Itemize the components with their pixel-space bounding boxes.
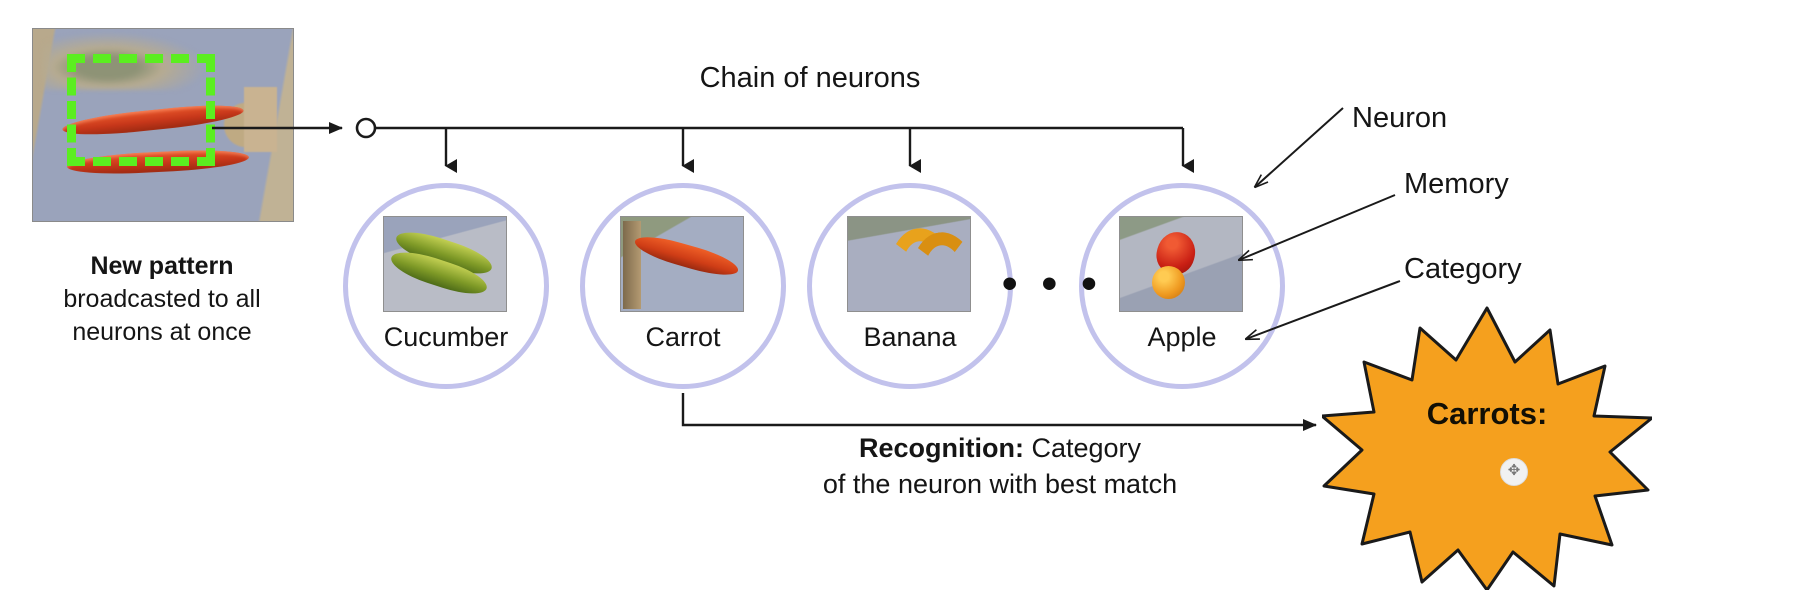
annotation-label-category: Category xyxy=(1404,253,1522,286)
neuron-label-banana: Banana xyxy=(847,322,973,352)
starburst-shape xyxy=(1322,300,1652,590)
memory-image-carrot xyxy=(620,216,744,312)
input-caption: New pattern broadcasted to all neurons a… xyxy=(2,250,322,349)
neuron-circle-cucumber[interactable]: Cucumber xyxy=(343,183,549,389)
neuron-circle-carrot[interactable]: Carrot xyxy=(580,183,786,389)
neuron-content-banana: Banana xyxy=(847,216,973,352)
recognition-caption-strong: Recognition: xyxy=(859,433,1024,463)
recognition-caption: Recognition: Category of the neuron with… xyxy=(690,430,1310,502)
recognition-caption-line1: Recognition: Category xyxy=(690,430,1310,466)
memory-image-apple xyxy=(1119,216,1243,312)
input-broadcast-line xyxy=(212,119,1183,166)
chain-of-neurons-title: Chain of neurons xyxy=(560,62,1060,95)
recognition-result-burst[interactable]: Carrots: xyxy=(1322,300,1652,590)
memory-image-banana xyxy=(847,216,971,312)
neuron-circle-banana[interactable]: Banana xyxy=(807,183,1013,389)
annotation-label-neuron: Neuron xyxy=(1352,102,1447,135)
input-caption-line3: neurons at once xyxy=(2,316,322,349)
neuron-label-apple: Apple xyxy=(1119,322,1245,352)
recognition-caption-rest: Category xyxy=(1024,433,1141,463)
diagram-canvas: New pattern broadcasted to all neurons a… xyxy=(0,0,1820,597)
recognition-caption-line2: of the neuron with best match xyxy=(690,466,1310,502)
memory-image-cucumber xyxy=(383,216,507,312)
input-caption-title: New pattern xyxy=(2,250,322,283)
ellipsis-dots: • • • xyxy=(1002,262,1103,306)
input-caption-line2: broadcasted to all xyxy=(2,283,322,316)
selection-bounding-box xyxy=(67,54,215,166)
input-pattern-photo xyxy=(32,28,294,222)
neuron-content-carrot: Carrot xyxy=(620,216,746,352)
annotation-label-memory: Memory xyxy=(1404,168,1509,201)
neuron-content-cucumber: Cucumber xyxy=(383,216,509,352)
neuron-label-carrot: Carrot xyxy=(620,322,746,352)
neuron-drop-lines xyxy=(446,128,910,166)
recognition-output-line xyxy=(683,393,1316,425)
neuron-label-cucumber: Cucumber xyxy=(383,322,509,352)
neuron-circle-apple[interactable]: Apple xyxy=(1079,183,1285,389)
neuron-content-apple: Apple xyxy=(1119,216,1245,352)
move-cursor-icon[interactable]: ✥ xyxy=(1500,458,1528,486)
